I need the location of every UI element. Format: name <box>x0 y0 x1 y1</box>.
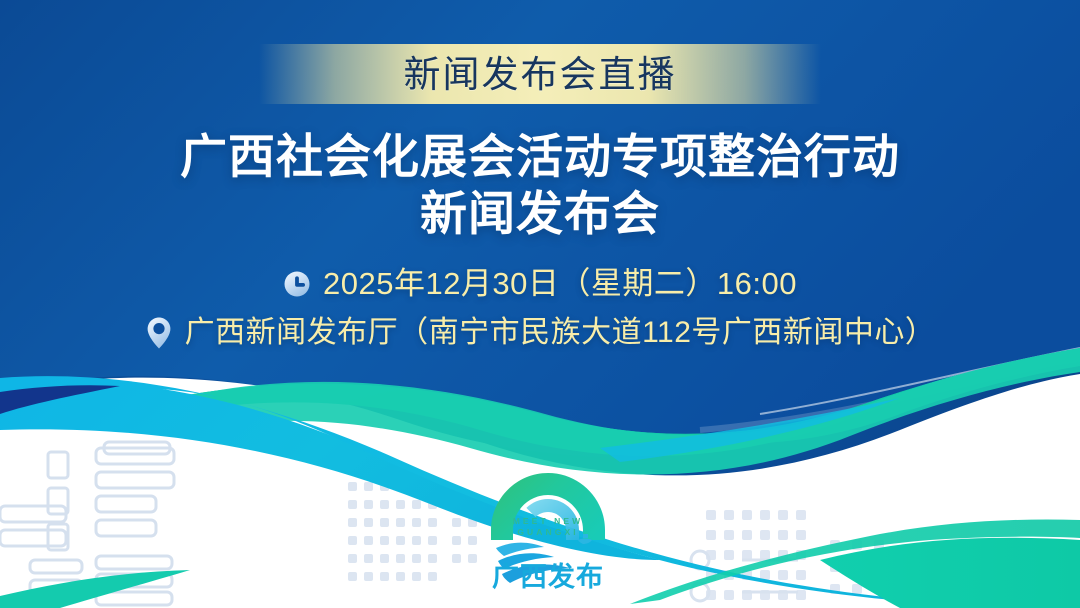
logo-tagline-line2: GUANGXI <box>486 527 610 538</box>
live-banner-label: 新闻发布会直播 <box>404 56 677 93</box>
live-banner: 新闻发布会直播 <box>0 44 1080 104</box>
title-line-2: 新闻发布会 <box>0 185 1080 242</box>
logo-tagline-line1: MEET NEW <box>486 516 610 527</box>
event-location-text: 广西新闻发布厅（南宁市民族大道112号广西新闻中心） <box>185 318 936 348</box>
logo-name: 广西发布 <box>486 564 610 591</box>
event-datetime-row: 2025年12月30日（星期二）16:00 <box>0 268 1080 299</box>
clock-icon <box>283 270 311 298</box>
press-conference-poster: 新闻发布会直播 广西社会化展会活动专项整治行动 新闻发布会 2025年12月30… <box>0 0 1080 608</box>
event-location-row: 广西新闻发布厅（南宁市民族大道112号广西新闻中心） <box>0 316 1080 350</box>
guangxi-release-logo: MEET NEW GUANGXI 广西发布 <box>486 468 610 596</box>
event-datetime-text: 2025年12月30日（星期二）16:00 <box>323 268 797 299</box>
page-title: 广西社会化展会活动专项整治行动 新闻发布会 <box>0 128 1080 243</box>
map-pin-icon <box>145 316 173 350</box>
title-line-1: 广西社会化展会活动专项整治行动 <box>0 128 1080 185</box>
